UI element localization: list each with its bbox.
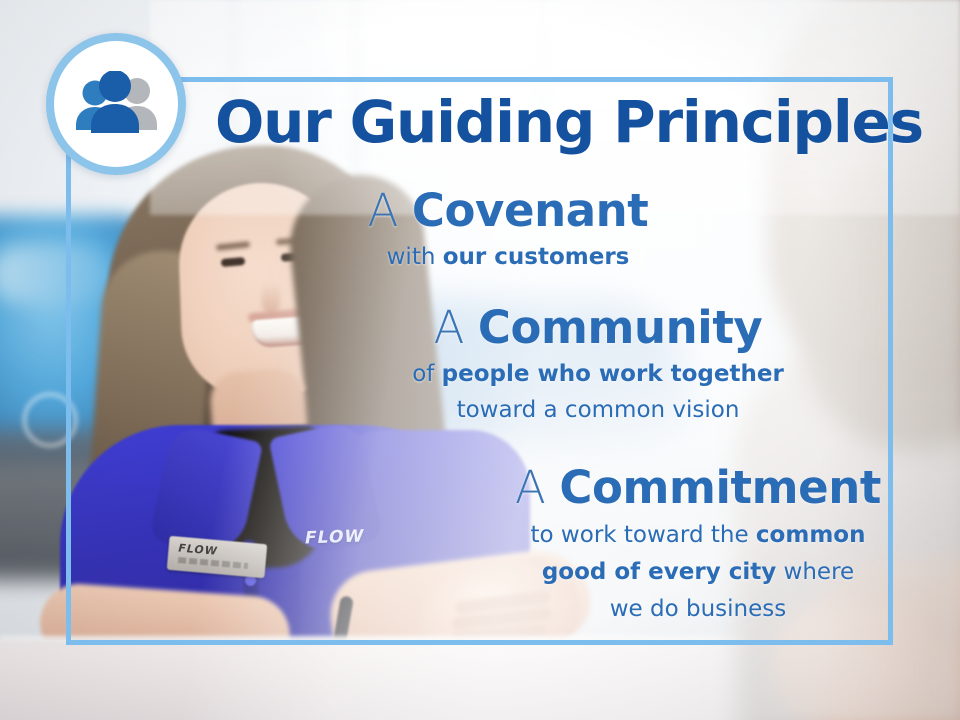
principle-keyword: Community: [478, 301, 762, 354]
principle-keyword: Commitment: [559, 461, 881, 514]
principle-subtext-prefix: of: [412, 361, 441, 387]
page-title: Our Guiding Principles: [215, 92, 905, 152]
principle-subtext-line2-tail: where: [776, 559, 854, 585]
principle-article: A: [368, 184, 412, 237]
principle-heading: A Community: [352, 303, 844, 353]
principle-article: A: [434, 301, 478, 354]
principle-block-community: A Community of people who work together …: [352, 303, 844, 425]
principle-subtext-line2: good of every city where: [452, 557, 944, 587]
employee-chest-logo: FLOW: [303, 527, 391, 548]
principle-subtext-prefix: to work toward the: [531, 522, 756, 548]
principle-block-covenant: A Covenant with our customers: [262, 186, 754, 272]
principle-subtext-line3: we do business: [452, 594, 944, 624]
vehicle-badge-icon: [22, 392, 78, 448]
principle-subtext: to work toward the common: [452, 520, 944, 550]
principle-heading: A Commitment: [452, 463, 944, 513]
principle-subtext-bold: people who work together: [442, 361, 784, 387]
principle-block-commitment: A Commitment to work toward the common g…: [452, 463, 944, 624]
principle-subtext-line2: toward a common vision: [352, 395, 844, 425]
principle-subtext: of people who work together: [352, 359, 844, 389]
principle-subtext-bold: our customers: [443, 244, 630, 270]
principle-heading: A Covenant: [262, 186, 754, 236]
employee-nose: [262, 283, 280, 313]
people-group-icon: [46, 33, 186, 175]
guiding-principles-graphic: FLOW FLOW: [0, 0, 960, 720]
principle-subtext: with our customers: [262, 242, 754, 272]
principle-article: A: [515, 461, 559, 514]
principle-subtext-bold: common: [756, 522, 866, 548]
principle-subtext-line2-bold: good of every city: [542, 559, 776, 585]
vehicle-highlight: [0, 245, 110, 303]
principle-keyword: Covenant: [412, 184, 649, 237]
principle-subtext-prefix: with: [387, 244, 443, 270]
